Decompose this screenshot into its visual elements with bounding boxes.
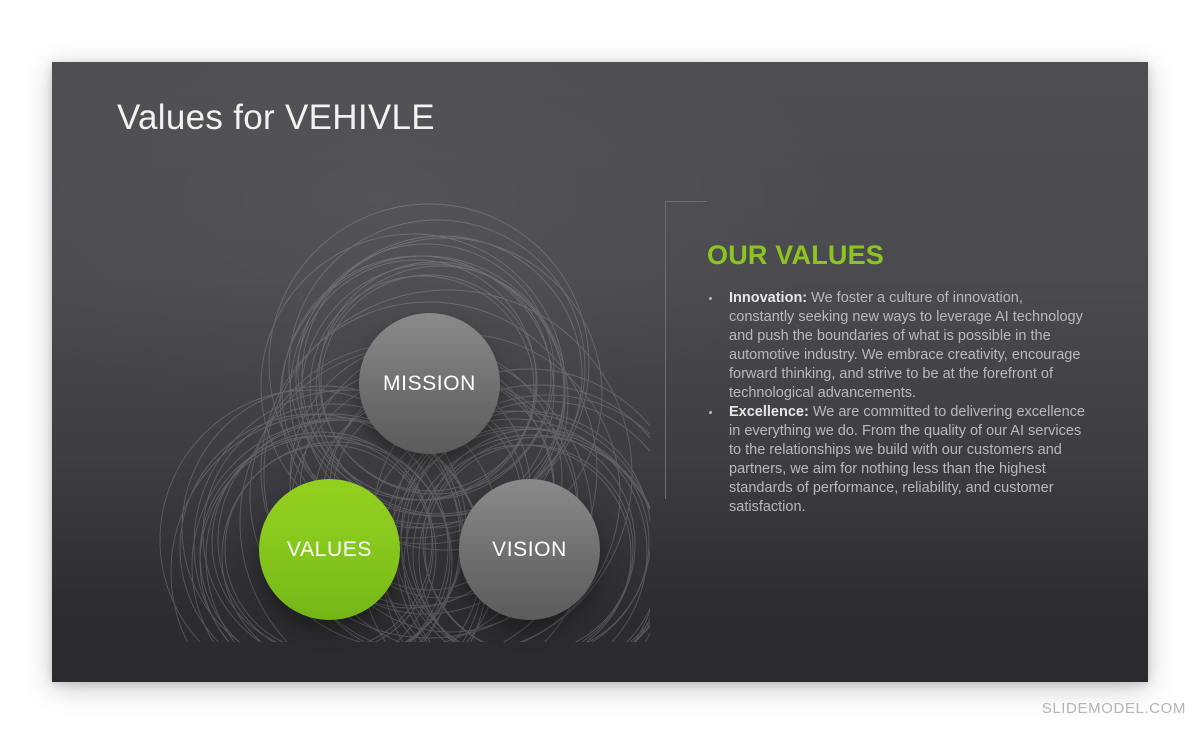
diagram-node-vision[interactable]: VISION (459, 479, 600, 620)
values-diagram: MISSION VALUES VISION (130, 182, 650, 642)
list-item-text: We are committed to delivering excellenc… (729, 404, 1085, 515)
list-item-term: Excellence: (729, 404, 809, 420)
list-item-term: Innovation: (729, 290, 807, 306)
values-text-panel: OUR VALUES Innovation: We foster a cultu… (707, 242, 1092, 517)
diagram-node-label: VALUES (287, 538, 372, 562)
diagram-node-label: MISSION (383, 372, 476, 396)
diagram-node-label: VISION (492, 538, 567, 562)
list-item-text: We foster a culture of innovation, const… (729, 290, 1083, 401)
diagram-node-mission[interactable]: MISSION (359, 313, 500, 454)
slide-canvas: Values for VEHIVLE (52, 62, 1148, 682)
panel-heading: OUR VALUES (707, 242, 1092, 269)
panel-bracket-rule (665, 201, 707, 499)
diagram-node-values[interactable]: VALUES (259, 479, 400, 620)
values-list: Innovation: We foster a culture of innov… (707, 289, 1092, 517)
bullet-icon (709, 411, 712, 414)
list-item: Excellence: We are committed to deliveri… (707, 403, 1092, 517)
slidemodel-watermark: SLIDEMODEL.COM (1042, 700, 1186, 717)
page-title: Values for VEHIVLE (117, 98, 435, 138)
bullet-icon (709, 297, 712, 300)
list-item: Innovation: We foster a culture of innov… (707, 289, 1092, 403)
